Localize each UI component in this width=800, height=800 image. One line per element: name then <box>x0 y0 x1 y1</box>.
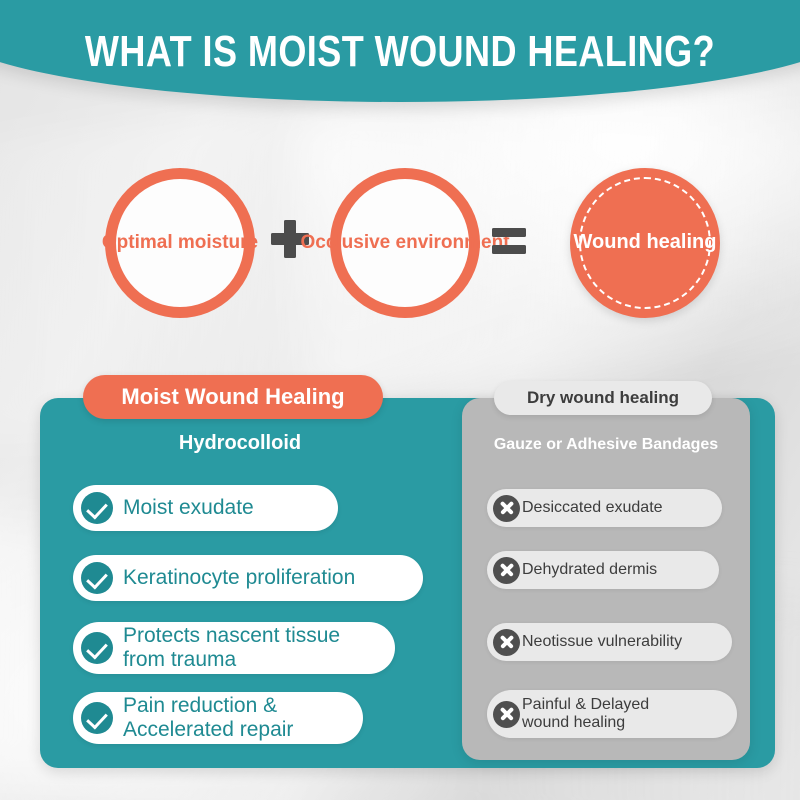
equation-term-label: Occlusive environment <box>300 232 509 254</box>
x-icon <box>493 557 520 584</box>
equation-result-label: Wound healing <box>574 231 717 254</box>
equation-term-optimal-moisture: Optimal moisture <box>105 168 255 318</box>
list-item-label: Neotissue vulnerability <box>522 633 682 651</box>
equation-term-occlusive-environment: Occlusive environment <box>330 168 480 318</box>
x-icon <box>493 495 520 522</box>
x-icon <box>493 629 520 656</box>
page-title: WHAT IS MOIST WOUND HEALING? <box>72 27 728 77</box>
infographic-canvas: WHAT IS MOIST WOUND HEALING? Optimal moi… <box>0 0 800 800</box>
list-item-moist-2: Keratinocyte proliferation <box>73 555 423 601</box>
list-item-label: Dehydrated dermis <box>522 561 657 579</box>
list-item-dry-2: Dehydrated dermis <box>487 551 719 589</box>
check-icon <box>81 632 113 664</box>
list-item-label: Painful & Delayed wound healing <box>522 696 649 731</box>
list-item-dry-1: Desiccated exudate <box>487 489 722 527</box>
list-item-moist-3: Protects nascent tissue from trauma <box>73 622 395 674</box>
equals-icon <box>492 228 526 254</box>
check-icon <box>81 702 113 734</box>
list-item-label: Protects nascent tissue from trauma <box>123 624 340 671</box>
x-icon <box>493 701 520 728</box>
check-icon <box>81 492 113 524</box>
equation-row: Optimal moisture Occlusive environment W… <box>0 168 800 320</box>
list-item-dry-4: Painful & Delayed wound healing <box>487 690 737 738</box>
list-item-label: Desiccated exudate <box>522 499 663 517</box>
list-item-moist-1: Moist exudate <box>73 485 338 531</box>
moist-column-subtitle: Hydrocolloid <box>40 432 440 455</box>
check-icon <box>81 562 113 594</box>
list-item-moist-4: Pain reduction & Accelerated repair <box>73 692 363 744</box>
equation-term-label: Optimal moisture <box>102 232 258 254</box>
list-item-label: Moist exudate <box>123 496 254 520</box>
list-item-label: Pain reduction & Accelerated repair <box>123 694 293 741</box>
list-item-dry-3: Neotissue vulnerability <box>487 623 732 661</box>
moist-column-heading: Moist Wound Healing <box>83 375 383 419</box>
dry-column-subtitle: Gauze or Adhesive Bandages <box>462 436 750 454</box>
equation-result-wound-healing: Wound healing <box>570 168 720 318</box>
list-item-label: Keratinocyte proliferation <box>123 566 355 590</box>
dry-column-heading: Dry wound healing <box>494 381 712 415</box>
